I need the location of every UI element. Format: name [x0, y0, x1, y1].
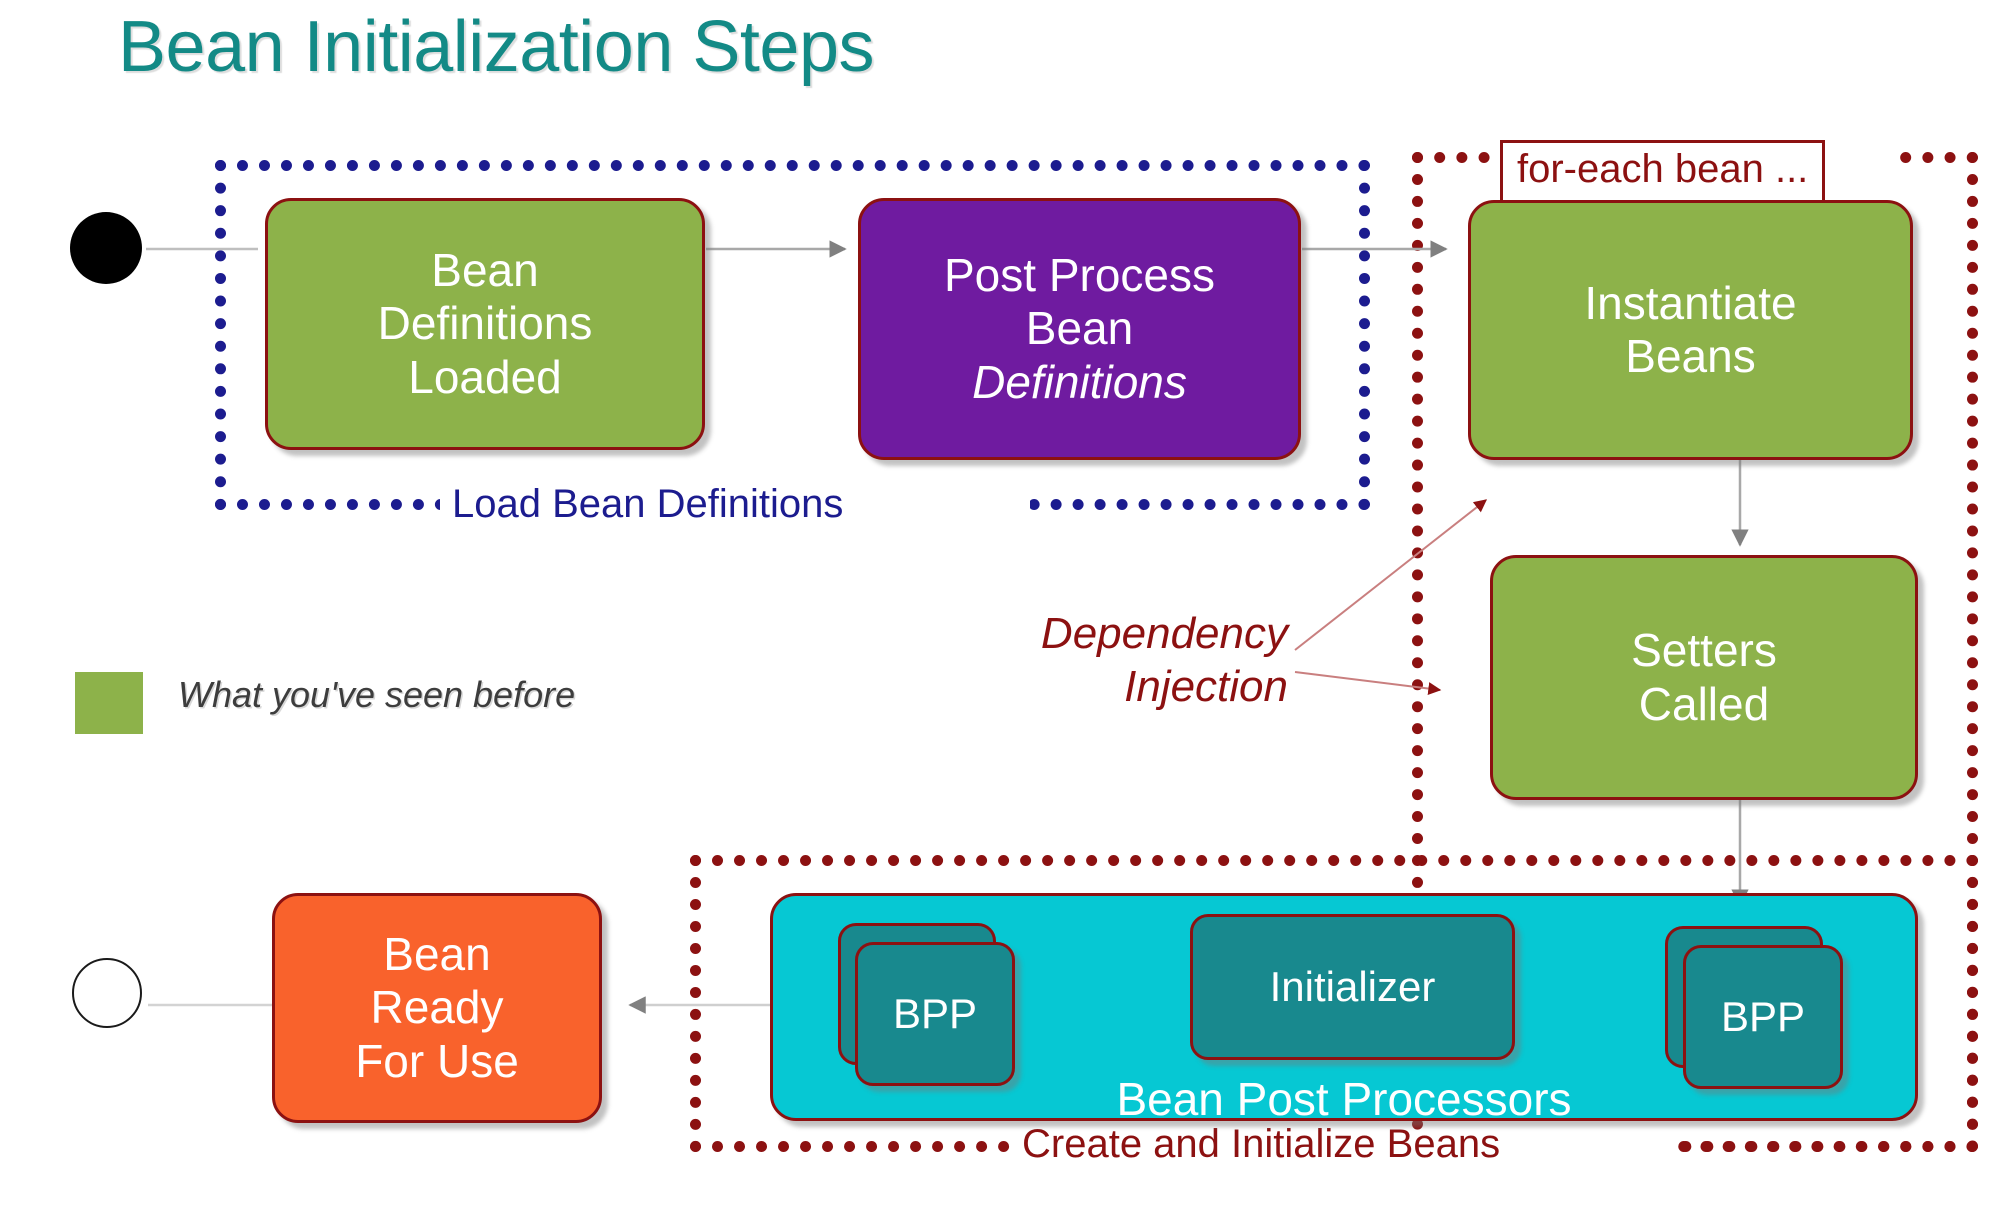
- annotation-line: Injection: [1124, 662, 1288, 711]
- node-line: Setters: [1631, 624, 1777, 677]
- end-marker: [72, 958, 142, 1028]
- node-instantiate-beans[interactable]: Instantiate Beans: [1468, 200, 1913, 460]
- node-line: Definitions: [378, 297, 593, 350]
- node-line: Beans: [1584, 330, 1796, 383]
- node-bean-definitions-loaded[interactable]: Bean Definitions Loaded: [265, 198, 705, 450]
- node-line-italic: Definitions: [944, 356, 1215, 409]
- node-line: Called: [1631, 678, 1777, 731]
- node-line: Instantiate: [1584, 277, 1796, 330]
- for-each-bean-label: for-each bean ...: [1500, 140, 1825, 203]
- node-initializer[interactable]: Initializer: [1190, 914, 1515, 1060]
- node-post-process-bean-definitions[interactable]: Post Process Bean Definitions: [858, 198, 1301, 460]
- node-line: For Use: [355, 1035, 519, 1088]
- annotation-line: Dependency: [1041, 609, 1288, 658]
- node-line: Bean: [355, 928, 519, 981]
- start-marker: [70, 212, 142, 284]
- annotation-dependency-injection: Dependency Injection: [958, 608, 1288, 714]
- node-setters-called[interactable]: Setters Called: [1490, 555, 1918, 800]
- node-line: Bean: [944, 302, 1215, 355]
- node-bean-ready-for-use[interactable]: Bean Ready For Use: [272, 893, 602, 1123]
- node-line: Loaded: [378, 351, 593, 404]
- node-line: Initializer: [1270, 963, 1436, 1012]
- node-line: Post Process: [944, 249, 1215, 302]
- node-bpp-left[interactable]: BPP: [855, 942, 1015, 1086]
- legend-color-swatch: [75, 672, 143, 734]
- group-load-caption: Load Bean Definitions: [452, 482, 843, 527]
- slide-canvas: Load Bean Definitions Create and Initial…: [0, 0, 2000, 1207]
- node-bpp-right[interactable]: BPP: [1683, 945, 1843, 1089]
- node-line: BPP: [1721, 993, 1805, 1042]
- node-line: Bean: [378, 244, 593, 297]
- node-line: Ready: [355, 981, 519, 1034]
- group-create-caption: Create and Initialize Beans: [1022, 1122, 1500, 1167]
- legend-label: What you've seen before: [178, 674, 575, 716]
- node-line: BPP: [893, 990, 977, 1039]
- page-title: Bean Initialization Steps: [118, 6, 874, 88]
